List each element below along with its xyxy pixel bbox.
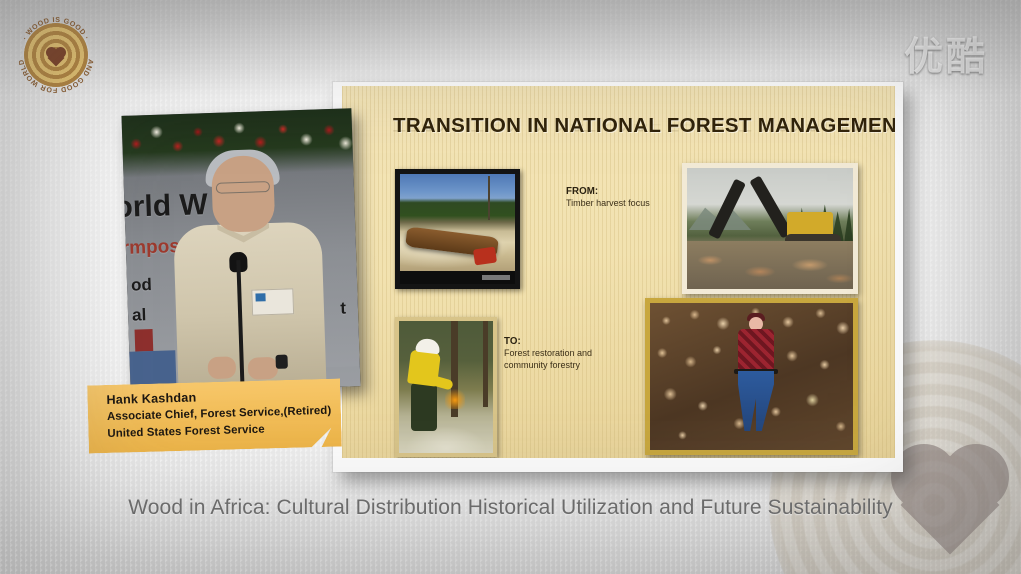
from-label: FROM: (566, 186, 650, 197)
to-text-line2: community forestry (504, 359, 616, 371)
logo-text-bottom: AND GOOD FOR WORLD (17, 59, 95, 95)
banner-text-line3: od (131, 275, 152, 296)
glasses-icon (216, 181, 270, 194)
slide-image-log-loader (682, 163, 858, 294)
logo-circular-text: · WOOD IS GOOD · AND GOOD FOR WORLD (15, 14, 97, 96)
banner-text-line4: al (132, 305, 147, 325)
wood-is-good-logo: · WOOD IS GOOD · AND GOOD FOR WORLD (15, 14, 97, 96)
to-text-line1: Forest restoration and (504, 347, 616, 359)
speaker-name-badge (251, 288, 294, 315)
slide-image-forest-worker (395, 317, 497, 457)
video-frame: · WOOD IS GOOD · AND GOOD FOR WORLD 优酷 T… (0, 0, 1021, 574)
video-caption: Wood in Africa: Cultural Distribution Hi… (0, 496, 1021, 520)
logo-text-top: · WOOD IS GOOD · (21, 16, 91, 42)
to-label-block: TO: Forest restoration and community for… (504, 336, 616, 371)
from-text: Timber harvest focus (566, 197, 650, 209)
to-label: TO: (504, 336, 616, 347)
slide-image-logging-skidder (395, 169, 520, 289)
slide-title: TRANSITION IN NATIONAL FOREST MANAGEMENT (393, 114, 895, 138)
slide-image-log-pile (645, 298, 858, 455)
youku-watermark: 优酷 (904, 26, 988, 82)
banner-text-line5: t (340, 299, 346, 319)
speaker-nameplate: Hank Kashdan Associate Chief, Forest Ser… (87, 378, 342, 453)
presentation-slide: TRANSITION IN NATIONAL FOREST MANAGEMENT… (342, 86, 895, 458)
slide-card: TRANSITION IN NATIONAL FOREST MANAGEMENT… (333, 82, 903, 472)
from-label-block: FROM: Timber harvest focus (566, 186, 650, 209)
speaker-photo: orld W d D rmposi od al t (121, 108, 360, 393)
